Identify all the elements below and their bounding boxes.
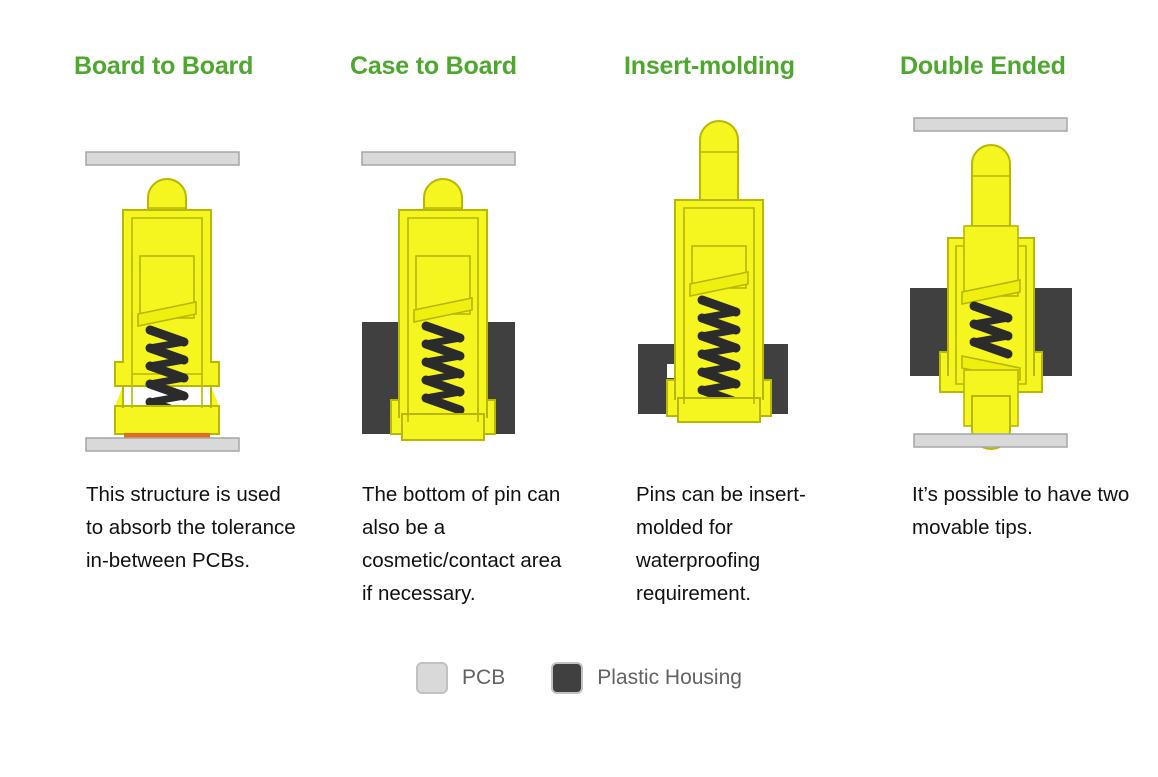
pcb-swatch-icon	[416, 662, 448, 694]
legend: PCB Plastic Housing	[0, 662, 1158, 694]
column-caption: The bottom of pin can also be a cosmetic…	[362, 478, 577, 610]
bottom-pcb	[914, 434, 1067, 447]
plunger-tip-top	[972, 145, 1010, 228]
legend-label-plastic-housing: Plastic Housing	[597, 666, 742, 690]
figure-double-ended	[888, 0, 1158, 350]
legend-label-pcb: PCB	[462, 666, 505, 690]
column-heading: Case to Board	[350, 52, 517, 81]
top-pcb	[914, 118, 1067, 131]
spring	[702, 300, 736, 402]
barrel-base	[115, 406, 219, 434]
top-pcb	[362, 152, 515, 165]
column-board-to-board: Board to Board	[62, 0, 338, 660]
column-heading: Board to Board	[74, 52, 253, 81]
barrel-base	[678, 398, 760, 422]
column-caption: It’s possible to have two movable tips.	[912, 478, 1137, 544]
figure-insert-molding	[612, 108, 888, 458]
column-case-to-board: Case to Board	[338, 0, 614, 660]
column-insert-molding: Insert-molding	[612, 0, 888, 660]
figure-case-to-board	[338, 108, 614, 458]
column-caption: This structure is used to absorb the tol…	[86, 478, 301, 577]
column-double-ended: Double Ended	[888, 0, 1158, 660]
pogo-pin-diagram: Board to Board	[0, 0, 1158, 777]
top-pcb	[86, 152, 239, 165]
plastic-housing-swatch-icon	[551, 662, 583, 694]
column-heading: Insert-molding	[624, 52, 795, 81]
column-caption: Pins can be insert-molded for waterproof…	[636, 478, 851, 610]
barrel-base	[402, 414, 484, 440]
plunger-tip	[700, 121, 738, 204]
legend-item-plastic-housing: Plastic Housing	[551, 662, 742, 694]
bottom-pcb	[86, 438, 239, 451]
figure-board-to-board	[62, 108, 338, 458]
legend-item-pcb: PCB	[416, 662, 505, 694]
